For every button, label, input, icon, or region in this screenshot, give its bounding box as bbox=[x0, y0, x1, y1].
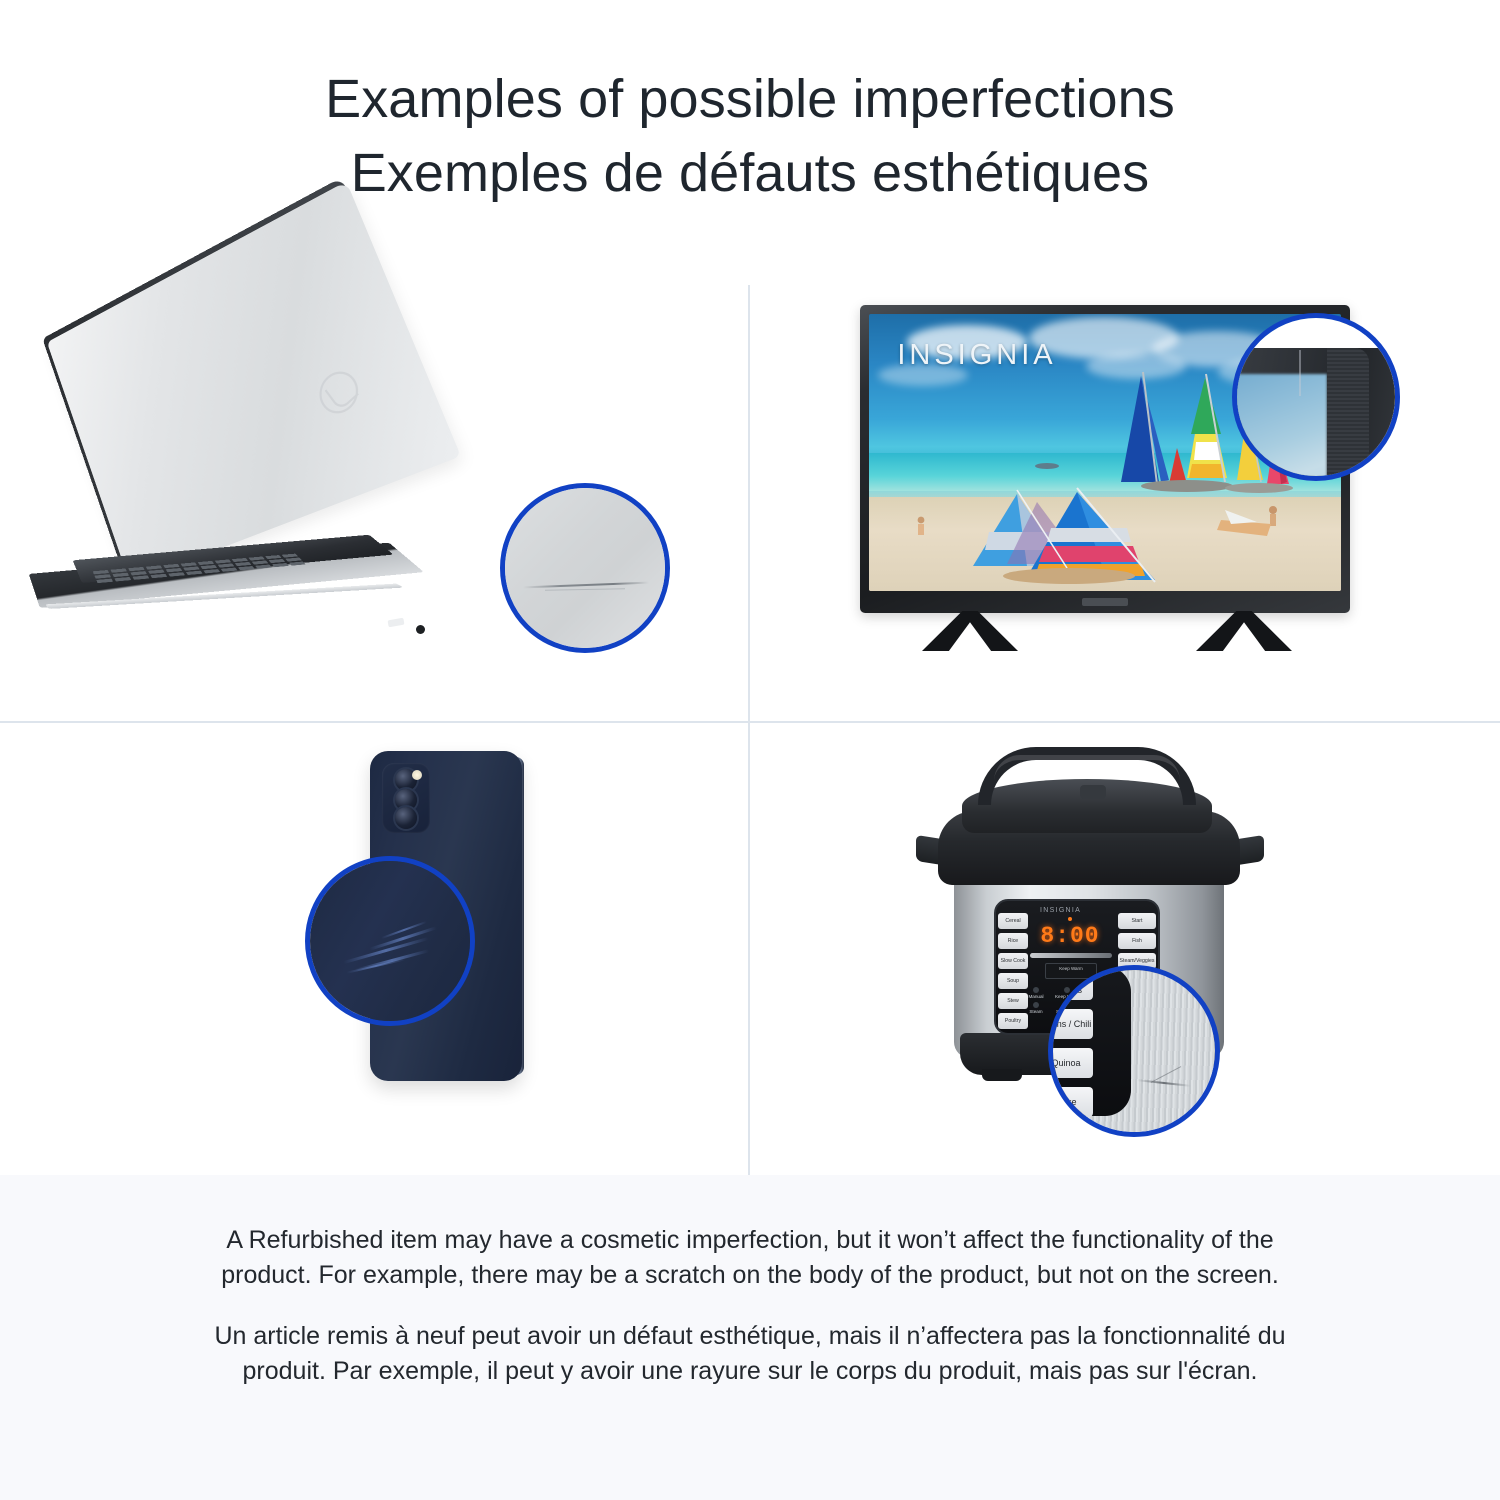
magnifier-laptop-scratch bbox=[500, 483, 670, 653]
cooker-pressure-slider[interactable] bbox=[1030, 953, 1112, 958]
cooker-button-start[interactable]: Start bbox=[1118, 913, 1156, 929]
grid-cell-phone bbox=[0, 723, 748, 1175]
camera-lens-icon bbox=[395, 807, 417, 829]
magnified-button-beans-chili[interactable]: Beans / Chili bbox=[1048, 1009, 1093, 1039]
cooker-button-fish[interactable]: Fish bbox=[1118, 933, 1156, 949]
grid-cell-tv: INSIGNIA bbox=[750, 285, 1500, 721]
magnifier-tv-corner bbox=[1232, 313, 1400, 481]
phone-image bbox=[290, 751, 590, 1151]
title-french: Exemples de défauts esthétiques bbox=[0, 136, 1500, 210]
camera-flash-icon bbox=[412, 770, 422, 780]
cooker-mode-label: Steam bbox=[1029, 1009, 1042, 1014]
scratch-mark bbox=[1137, 1079, 1191, 1086]
magnifier-cooker-panel-edge: Delay Slow Cook Steam / Veggies Beans / … bbox=[1048, 966, 1131, 1116]
magnified-button-steam-veggies[interactable]: Steam / Veggies bbox=[1048, 970, 1093, 1000]
cooker-button-poultry[interactable]: Poultry bbox=[998, 1013, 1028, 1029]
cooker-button-cereal[interactable]: Cereal bbox=[998, 913, 1028, 929]
laptop-usb-port-icon bbox=[388, 618, 405, 628]
cooker-button-slow-cook[interactable]: Slow Cook bbox=[998, 953, 1028, 969]
dell-logo-icon bbox=[312, 363, 366, 422]
laptop-lid bbox=[47, 181, 461, 583]
tv-corner-screen-zoom bbox=[1232, 374, 1327, 481]
caption-english: A Refurbished item may have a cosmetic i… bbox=[180, 1223, 1320, 1293]
cooker-status-led bbox=[1068, 917, 1072, 921]
cooker-foot-left bbox=[982, 1069, 1022, 1081]
cooker-button-manual[interactable]: Manual bbox=[1022, 987, 1050, 999]
pressure-cooker-image: INSIGNIA 8:00 Cereal Rice Slow Cook Soup… bbox=[920, 733, 1340, 1163]
tv-brand-plate bbox=[1082, 598, 1128, 606]
cooker-brand-label: INSIGNIA bbox=[1040, 907, 1081, 914]
cooker-button-steam[interactable]: Steam bbox=[1022, 1002, 1050, 1014]
laptop-audio-port-icon bbox=[416, 625, 425, 634]
magnifier-tv-surface bbox=[1237, 318, 1395, 476]
cooker-handle-highlight bbox=[994, 755, 1180, 781]
product-examples-grid: INSIGNIA bbox=[0, 285, 1500, 1175]
tv-brand-wordmark: INSIGNIA bbox=[897, 339, 1056, 372]
tv-corner-side-edge bbox=[1327, 348, 1369, 481]
tv-stand-left bbox=[922, 611, 1018, 651]
magnified-button-cake[interactable]: Cake bbox=[1048, 1087, 1093, 1117]
led-icon bbox=[1033, 987, 1039, 993]
magnified-button-stack[interactable]: Steam / Veggies Beans / Chili Quinoa Cak… bbox=[1048, 970, 1093, 1117]
magnifier-phone-scratches bbox=[305, 856, 475, 1026]
grid-cell-laptop bbox=[0, 285, 748, 721]
tv-stand-right bbox=[1196, 611, 1292, 651]
cooker-timer-display: 8:00 bbox=[1032, 923, 1108, 949]
camera-module bbox=[382, 763, 430, 833]
magnifier-cooker-surface: Delay Slow Cook Steam / Veggies Beans / … bbox=[1053, 970, 1215, 1132]
led-icon bbox=[1033, 1002, 1039, 1008]
caption-french: Un article remis à neuf peut avoir un dé… bbox=[180, 1319, 1320, 1389]
tv-corner-seam-mark bbox=[1299, 350, 1301, 396]
scratch-mark-secondary bbox=[1151, 1066, 1182, 1083]
refurbished-imperfections-infographic: Examples of possible imperfections Exemp… bbox=[0, 0, 1500, 1500]
caption-section: A Refurbished item may have a cosmetic i… bbox=[0, 1175, 1500, 1500]
scratch-mark-secondary bbox=[545, 588, 625, 590]
magnifier-cooker-scratch: Delay Slow Cook Steam / Veggies Beans / … bbox=[1048, 965, 1220, 1137]
tv-image: INSIGNIA bbox=[860, 305, 1400, 705]
title-english: Examples of possible imperfections bbox=[0, 62, 1500, 136]
magnifier-phone-surface bbox=[310, 861, 470, 1021]
grid-cell-pressure-cooker: INSIGNIA 8:00 Cereal Rice Slow Cook Soup… bbox=[750, 723, 1500, 1175]
scratch-mark bbox=[523, 582, 649, 589]
magnifier-laptop-surface bbox=[505, 488, 665, 648]
cooker-mode-label: Manual bbox=[1028, 994, 1043, 999]
cooker-button-rice[interactable]: Rice bbox=[998, 933, 1028, 949]
laptop-image bbox=[30, 303, 510, 703]
magnified-button-quinoa[interactable]: Quinoa bbox=[1048, 1048, 1093, 1078]
page-title: Examples of possible imperfections Exemp… bbox=[0, 62, 1500, 210]
